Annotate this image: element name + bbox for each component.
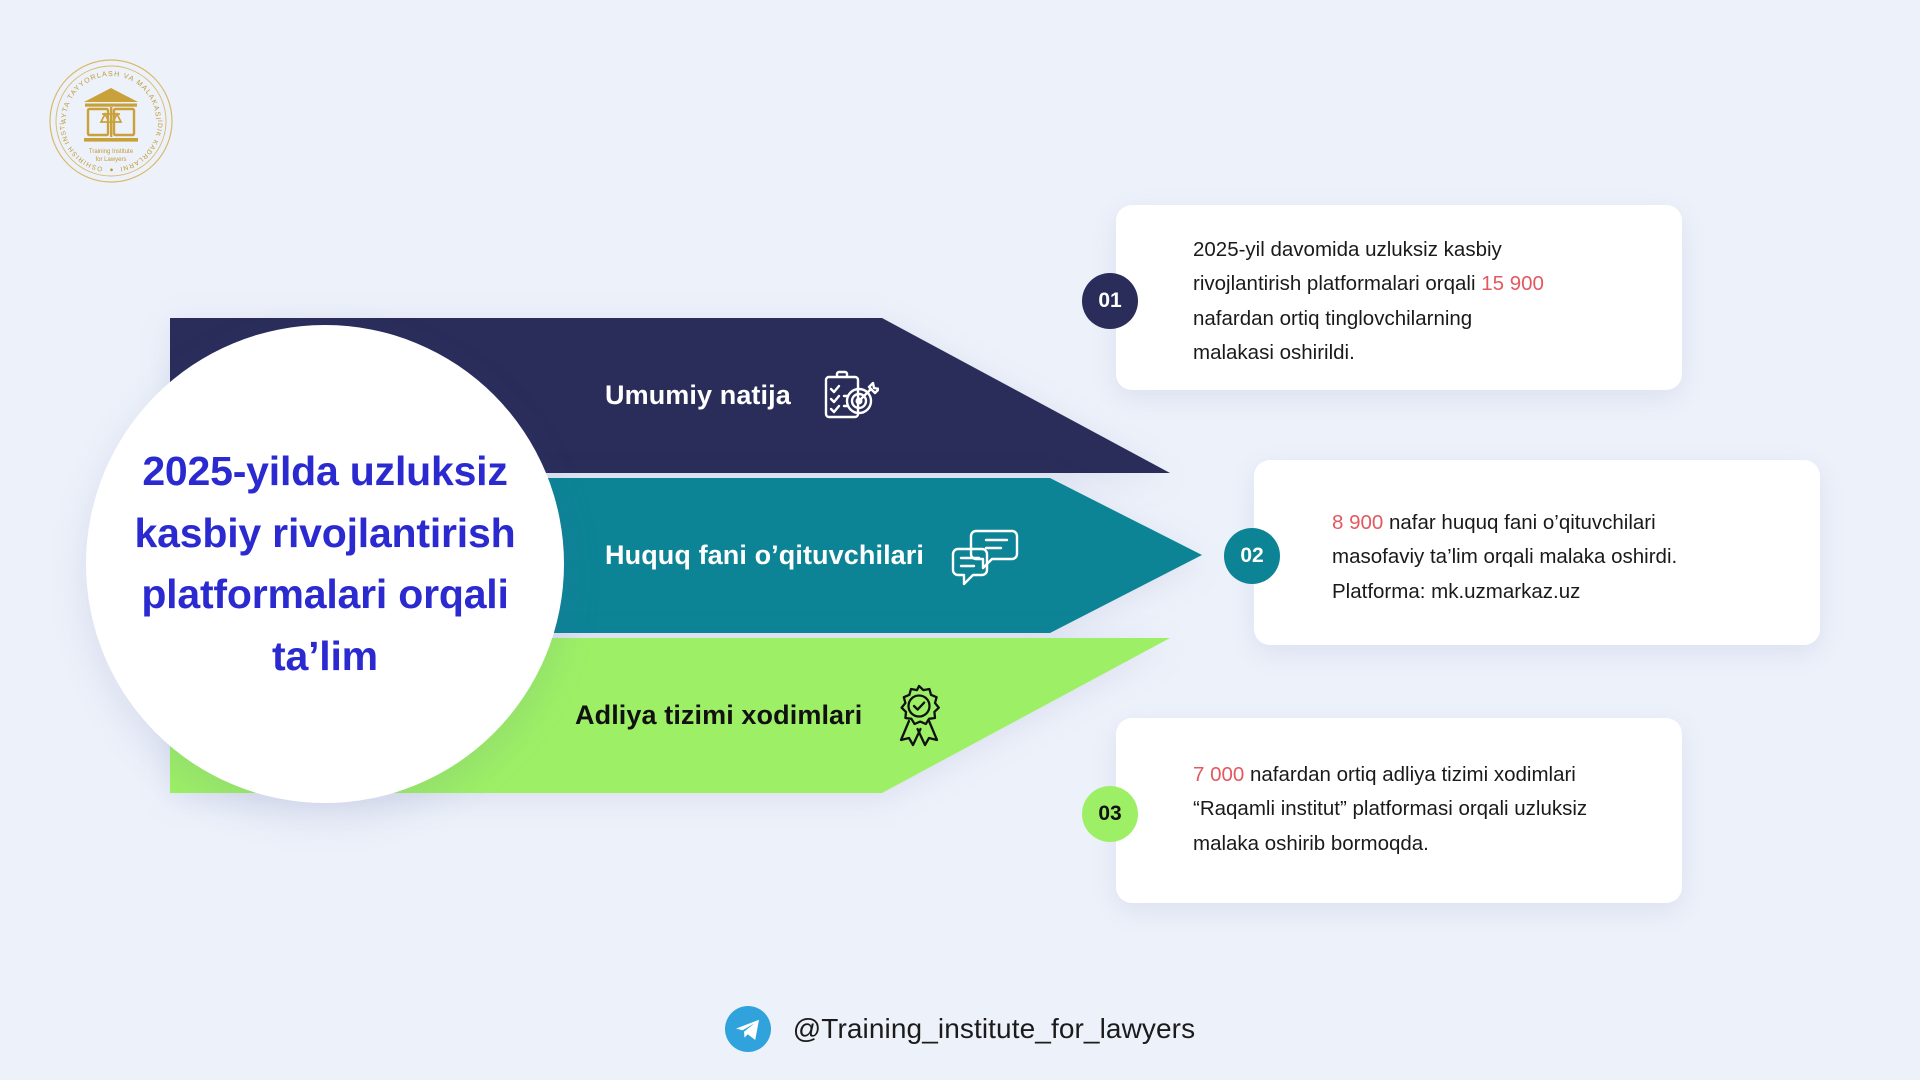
svg-text:for Lawyers: for Lawyers <box>95 157 126 163</box>
info-card-1: 2025-yil davomida uzluksiz kasbiyrivojla… <box>1116 205 1682 390</box>
award-ribbon-icon <box>888 683 950 749</box>
clipboard-target-icon <box>817 365 879 427</box>
card-1-text: 2025-yil davomida uzluksiz kasbiyrivojla… <box>1193 233 1544 371</box>
arrow-label-3: Adliya tizimi xodimlari <box>575 700 862 731</box>
title-circle: 2025-yilda uzluksiz kasbiy rivojlantiris… <box>86 325 564 803</box>
footer: @Training_institute_for_lawyers <box>0 1006 1920 1052</box>
arrow-label-2: Huquq fani o’qituvchilari <box>605 540 924 571</box>
institute-logo: QAYTA TAYYORLASH VA MALAKASINI YURIDIK K… <box>48 58 174 184</box>
speech-bubbles-icon <box>950 525 1020 587</box>
card-3-text: 7 000 nafardan ortiq adliya tizimi xodim… <box>1193 758 1587 861</box>
telegram-icon[interactable] <box>725 1006 771 1052</box>
step-badge-01[interactable]: 01 <box>1082 273 1138 329</box>
arrow-label-1: Umumiy natija <box>605 380 791 411</box>
info-card-3: 7 000 nafardan ortiq adliya tizimi xodim… <box>1116 718 1682 903</box>
telegram-handle[interactable]: @Training_institute_for_lawyers <box>793 1013 1195 1045</box>
step-badge-03[interactable]: 03 <box>1082 786 1138 842</box>
step-badge-02[interactable]: 02 <box>1224 528 1280 584</box>
page-title: 2025-yilda uzluksiz kasbiy rivojlantiris… <box>125 441 525 687</box>
info-card-2: 8 900 nafar huquq fani o’qituvchilari ma… <box>1254 460 1820 645</box>
svg-text:Training Institute: Training Institute <box>89 149 134 155</box>
card-2-text: 8 900 nafar huquq fani o’qituvchilari ma… <box>1332 506 1677 609</box>
